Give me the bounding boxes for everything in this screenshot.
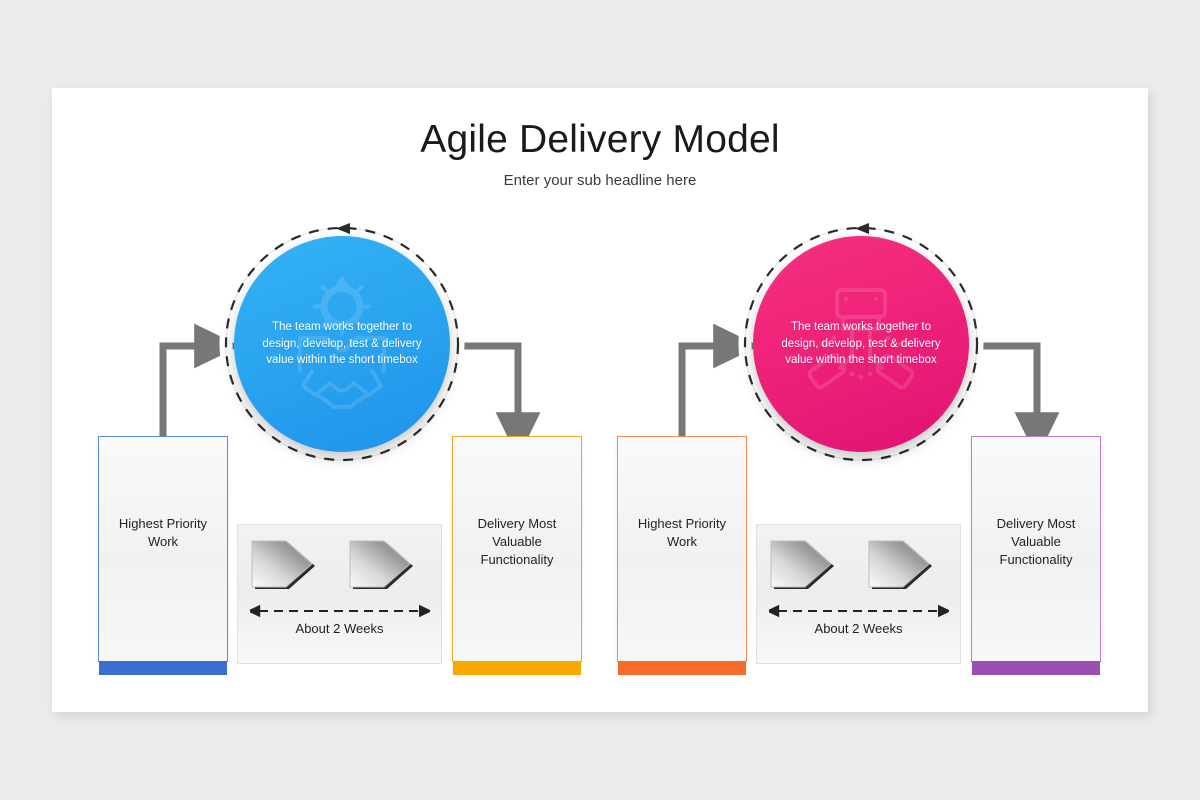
cycle-circle-2[interactable]: The team works together to design, devel… — [737, 220, 985, 468]
cycle-disc-2: The team works together to design, devel… — [753, 236, 969, 452]
group-2: Highest Priority Work About 2 Weeks Deli… — [52, 88, 1148, 712]
output-card-2-accent-bar — [972, 661, 1100, 675]
duration-arrow-2 — [769, 603, 949, 619]
cycle-disc-2-text: The team works together to design, devel… — [776, 319, 946, 369]
timebox-2-label: About 2 Weeks — [757, 621, 960, 636]
output-card-2[interactable]: Delivery Most Valuable Functionality — [971, 436, 1101, 662]
input-card-2[interactable]: Highest Priority Work — [617, 436, 747, 662]
chevron-row-2 — [765, 537, 955, 591]
slide-canvas: Agile Delivery Model Enter your sub head… — [52, 88, 1148, 712]
chevron-icon-2b — [869, 541, 932, 589]
timebox-2: About 2 Weeks — [756, 524, 961, 664]
input-card-2-label: Highest Priority Work — [618, 515, 746, 551]
input-card-2-accent-bar — [618, 661, 746, 675]
chevron-icon-2a — [771, 541, 834, 589]
output-card-2-label: Delivery Most Valuable Functionality — [972, 515, 1100, 569]
